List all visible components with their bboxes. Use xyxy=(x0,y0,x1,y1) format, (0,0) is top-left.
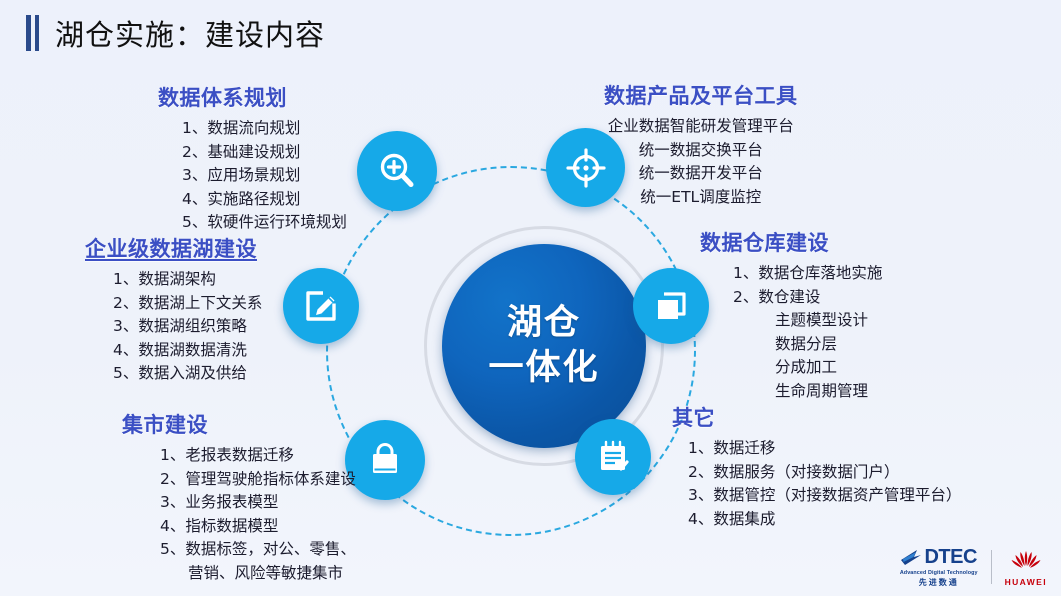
block-list: 1、数据迁移 2、数据服务（对接数据门户） 3、数据管控（对接数据资产管理平台）… xyxy=(672,437,961,531)
list-item: 3、数据管控（对接数据资产管理平台） xyxy=(688,484,961,508)
block-title: 其它 xyxy=(672,402,961,432)
shopping-bag-icon xyxy=(364,439,406,481)
list-item: 2、基础建设规划 xyxy=(182,141,347,165)
page-title: 湖仓实施：建设内容 xyxy=(26,12,325,54)
list-item: 统一ETL调度监控 xyxy=(604,186,798,210)
block-title: 数据仓库建设 xyxy=(700,227,882,257)
dtec-tagline: Advanced Digital Technology xyxy=(900,570,978,576)
node-checklist[interactable] xyxy=(575,419,651,495)
block-others: 其它 1、数据迁移 2、数据服务（对接数据门户） 3、数据管控（对接数据资产管理… xyxy=(672,402,961,531)
dtec-logo: DTEC Advanced Digital Technology 先进数通 xyxy=(900,546,978,588)
list-item: 统一数据开发平台 xyxy=(604,162,798,186)
dtec-arrow-icon xyxy=(900,549,922,566)
list-item: 1、数据仓库落地实施 xyxy=(733,262,882,286)
block-data-products-platform: 数据产品及平台工具 企业数据智能研发管理平台 统一数据交换平台 统一数据开发平台… xyxy=(604,80,798,209)
block-mart-construction: 集市建设 1、老报表数据迁移 2、管理驾驶舱指标体系建设 3、业务报表模型 4、… xyxy=(122,409,356,585)
list-item: 1、数据湖架构 xyxy=(113,268,262,292)
node-bag[interactable] xyxy=(345,420,425,500)
node-zoom-in[interactable] xyxy=(357,131,437,211)
node-copy[interactable] xyxy=(633,268,709,344)
list-item: 4、指标数据模型 xyxy=(160,515,356,539)
list-item: 2、数据服务（对接数据门户） xyxy=(688,461,961,485)
list-item: 数据分层 xyxy=(733,333,882,357)
list-item: 2、数据湖上下文关系 xyxy=(113,292,262,316)
title-text: 湖仓实施：建设内容 xyxy=(55,12,325,54)
list-item: 生命周期管理 xyxy=(733,380,882,404)
list-item: 5、软硬件运行环境规划 xyxy=(182,211,347,235)
center-line-2: 一体化 xyxy=(488,346,599,391)
center-hub: 湖仓 一体化 xyxy=(442,244,646,448)
huawei-logo: HUAWEI xyxy=(1005,548,1047,587)
block-data-system-planning: 数据体系规划 1、数据流向规划 2、基础建设规划 3、应用场景规划 4、实施路径… xyxy=(150,82,347,235)
slide-canvas: 湖仓实施：建设内容 湖仓 一体化 xyxy=(0,0,1061,596)
block-enterprise-data-lake: 企业级数据湖建设 1、数据湖架构 2、数据湖上下文关系 3、数据湖组织策略 4、… xyxy=(85,233,262,386)
block-list: 1、老报表数据迁移 2、管理驾驶舱指标体系建设 3、业务报表模型 4、指标数据模… xyxy=(122,444,356,585)
logo-divider xyxy=(991,550,992,584)
dtec-wordmark: DTEC xyxy=(924,546,976,569)
block-title: 企业级数据湖建设 xyxy=(85,233,262,263)
title-accent-bars xyxy=(26,15,39,51)
list-item: 3、业务报表模型 xyxy=(160,491,356,515)
list-item: 4、数据湖数据清洗 xyxy=(113,339,262,363)
list-item: 4、实施路径规划 xyxy=(182,188,347,212)
list-item: 3、数据湖组织策略 xyxy=(113,315,262,339)
dtec-logo-mark: DTEC xyxy=(900,546,976,569)
block-list: 企业数据智能研发管理平台 统一数据交换平台 统一数据开发平台 统一ETL调度监控 xyxy=(604,115,798,209)
list-item: 5、数据入湖及供给 xyxy=(113,362,262,386)
block-title: 数据体系规划 xyxy=(158,82,347,112)
pencil-square-icon xyxy=(301,286,341,326)
list-item: 2、管理驾驶舱指标体系建设 xyxy=(160,468,356,492)
list-item: 1、数据流向规划 xyxy=(182,117,347,141)
block-title: 集市建设 xyxy=(122,409,356,439)
list-item: 2、数仓建设 xyxy=(733,286,882,310)
block-list: 1、数据湖架构 2、数据湖上下文关系 3、数据湖组织策略 4、数据湖数据清洗 5… xyxy=(85,268,262,386)
huawei-flower-icon xyxy=(1008,548,1044,575)
list-item: 统一数据交换平台 xyxy=(604,139,798,163)
block-list: 1、数据仓库落地实施 2、数仓建设 主题模型设计 数据分层 分成加工 生命周期管… xyxy=(700,262,882,403)
list-item: 企业数据智能研发管理平台 xyxy=(604,115,798,139)
footer-logos: DTEC Advanced Digital Technology 先进数通 HU… xyxy=(900,546,1047,588)
magnifier-plus-icon xyxy=(375,149,419,193)
list-item: 主题模型设计 xyxy=(733,309,882,333)
target-crosshair-icon xyxy=(565,147,607,189)
dtec-chinese-name: 先进数通 xyxy=(919,577,959,588)
huawei-wordmark: HUAWEI xyxy=(1005,577,1047,587)
block-title: 数据产品及平台工具 xyxy=(604,80,798,110)
list-item: 3、应用场景规划 xyxy=(182,164,347,188)
list-item: 4、数据集成 xyxy=(688,508,961,532)
copy-layers-icon xyxy=(651,286,691,326)
list-item: 5、数据标签，对公、零售、 xyxy=(160,538,356,562)
block-list: 1、数据流向规划 2、基础建设规划 3、应用场景规划 4、实施路径规划 5、软硬… xyxy=(150,117,347,235)
list-item: 1、老报表数据迁移 xyxy=(160,444,356,468)
node-edit[interactable] xyxy=(283,268,359,344)
block-data-warehouse: 数据仓库建设 1、数据仓库落地实施 2、数仓建设 主题模型设计 数据分层 分成加… xyxy=(700,227,882,403)
list-item: 1、数据迁移 xyxy=(688,437,961,461)
list-item: 营销、风险等敏捷集市 xyxy=(160,562,356,586)
center-line-1: 湖仓 xyxy=(507,301,581,346)
list-item: 分成加工 xyxy=(733,356,882,380)
notepad-check-icon xyxy=(593,437,633,477)
